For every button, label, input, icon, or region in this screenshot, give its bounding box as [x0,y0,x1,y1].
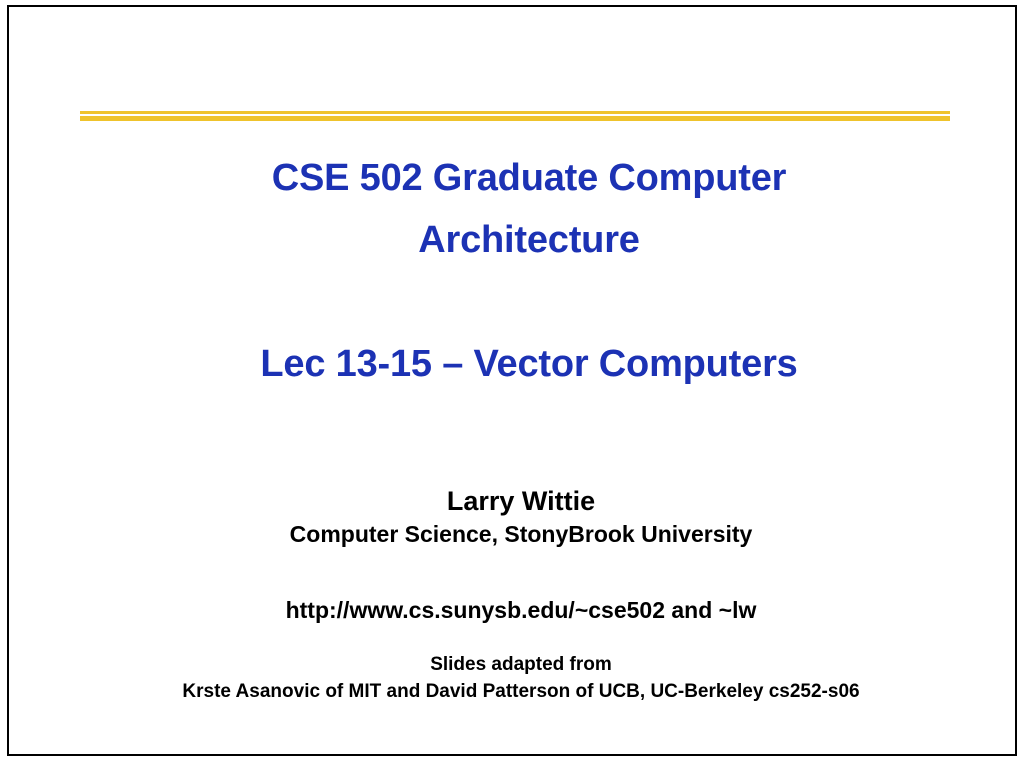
lecture-subtitle: Lec 13-15 – Vector Computers [139,333,919,395]
credits-line-1: Slides adapted from [51,651,991,678]
author-affiliation: Computer Science, StonyBrook University [71,518,971,551]
slide-page: CSE 502 Graduate Computer Architecture L… [0,0,1024,768]
course-url: http://www.cs.sunysb.edu/~cse502 and ~lw [71,595,971,625]
credits-block: Slides adapted from Krste Asanovic of MI… [51,651,991,705]
slide-title-block: CSE 502 Graduate Computer Architecture L… [139,147,919,395]
gold-accent-rule [80,111,950,123]
course-title-line-1: CSE 502 Graduate Computer [139,147,919,209]
slide-border-frame: CSE 502 Graduate Computer Architecture L… [7,5,1017,756]
title-spacer [139,271,919,333]
slide-canvas: CSE 502 Graduate Computer Architecture L… [9,7,1015,754]
course-title-line-2: Architecture [139,209,919,271]
gold-rule-thick-line [80,116,950,121]
author-name: Larry Wittie [71,484,971,518]
credits-line-2: Krste Asanovic of MIT and David Patterso… [51,678,991,705]
author-block: Larry Wittie Computer Science, StonyBroo… [71,484,971,551]
